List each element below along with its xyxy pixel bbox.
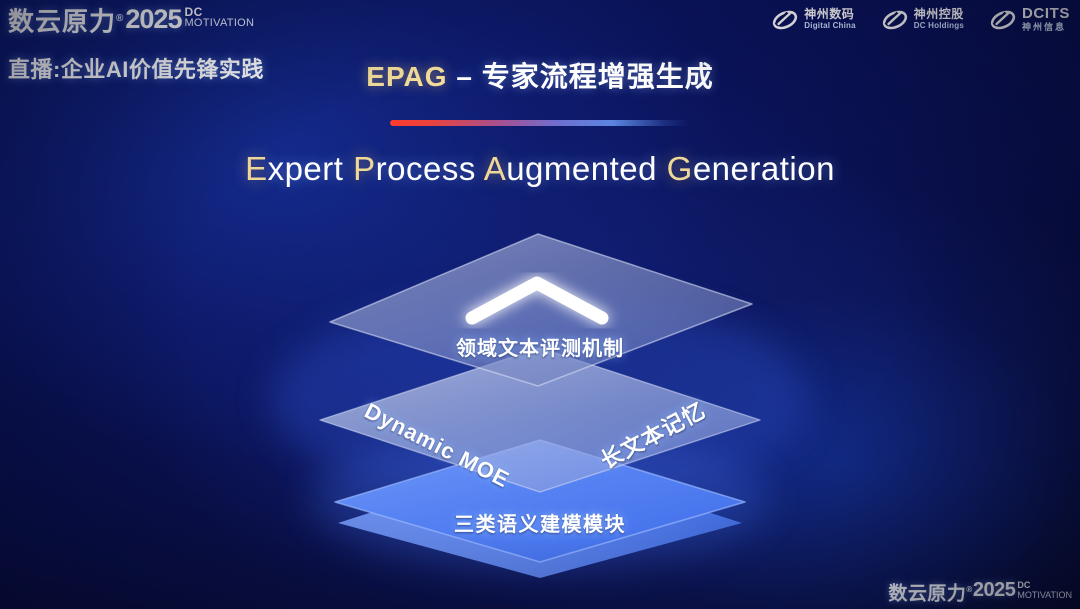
watermark-name-cn: 数云原力® [888, 579, 972, 605]
layer-label-bottom: 三类语义建模模块 [454, 508, 626, 537]
layer-label-top: 领域文本评测机制 [456, 332, 624, 361]
watermark-dc-text: DC [1017, 581, 1072, 590]
watermark-dc-motivation: DC MOTIVATION [1017, 581, 1072, 600]
presentation-slide: 数云原力® 2025 DC MOTIVATION 直播:企业AI价值先锋实践 神… [0, 0, 1080, 609]
watermark-year: 2025 [973, 579, 1016, 601]
watermark-motivation-text: MOTIVATION [1017, 591, 1072, 600]
watermark-logo: 数云原力® 2025 DC MOTIVATION [888, 579, 1072, 605]
layered-architecture-diagram: 领域文本评测机制 Dynamic MOE 长文本记忆 三类语义建模模块 [0, 0, 1080, 609]
